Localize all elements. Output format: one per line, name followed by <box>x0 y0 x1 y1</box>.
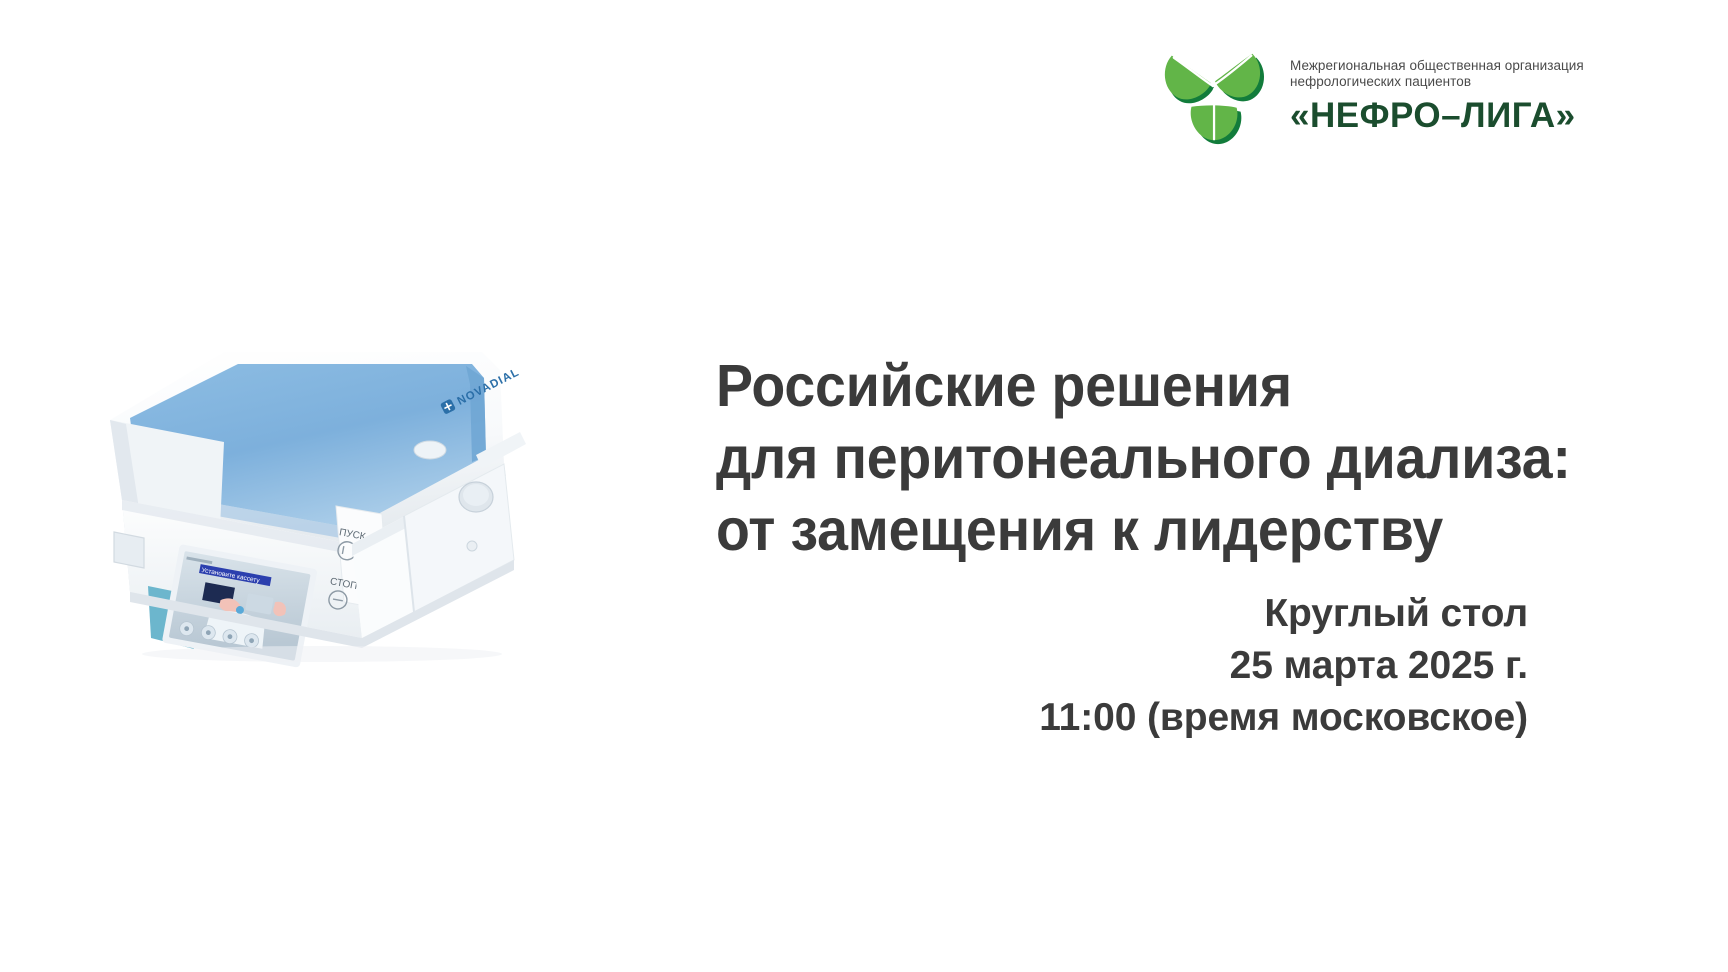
logo-text-block: Межрегиональная общественная организация… <box>1290 54 1584 135</box>
logo-subtitle-line2: нефрологических пациентов <box>1290 74 1584 90</box>
event-details: Круглый стол 25 марта 2025 г. 11:00 (вре… <box>828 588 1528 744</box>
page-title: Российские решения для перитонеального д… <box>716 350 1618 566</box>
device-illustration: Установите кассету <box>52 292 682 682</box>
event-type: Круглый стол <box>828 588 1528 640</box>
title-line-1: Российские решения <box>716 350 1618 422</box>
slide-root: Межрегиональная общественная организация… <box>0 0 1728 972</box>
title-line-2: для перитонеального диализа: <box>716 422 1618 494</box>
trefoil-leaf-logo-icon <box>1158 38 1276 150</box>
title-line-3: от замещения к лидерству <box>716 494 1618 566</box>
nephro-liga-logo: Межрегиональная общественная организация… <box>1158 38 1584 150</box>
logo-subtitle-line1: Межрегиональная общественная организация <box>1290 58 1584 74</box>
peritoneal-dialysis-cycler-image: Установите кассету <box>52 292 682 682</box>
event-date: 25 марта 2025 г. <box>828 640 1528 692</box>
logo-organization-name: «НЕФРО–ЛИГА» <box>1290 97 1584 135</box>
event-time: 11:00 (время московское) <box>828 692 1528 744</box>
